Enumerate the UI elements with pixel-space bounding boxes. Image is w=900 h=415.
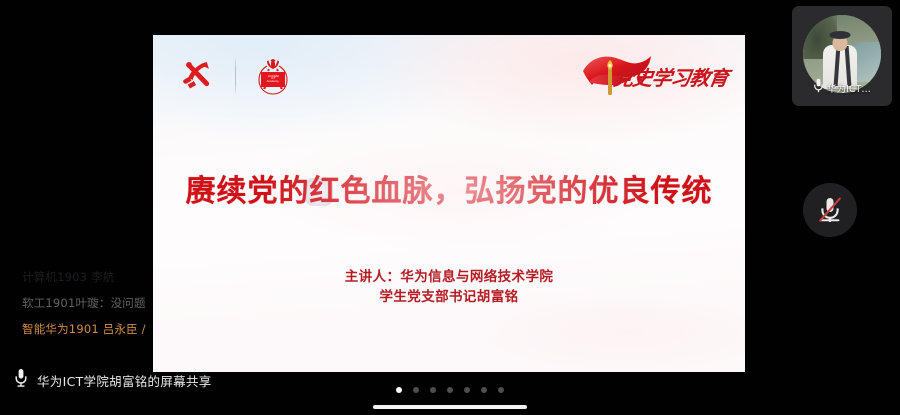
home-indicator[interactable]: [373, 405, 527, 409]
screen-share-status-bar: 华为ICT学院胡富铭的屏幕共享: [14, 368, 212, 392]
pagination-dot[interactable]: [447, 387, 453, 393]
shared-screen-slide[interactable]: HUAWEI ICT Academy: [153, 35, 745, 372]
participant-footer: 华为ICT…: [792, 78, 892, 98]
pagination-dot[interactable]: [396, 387, 402, 393]
ict-academy-line3: Academy: [267, 81, 279, 84]
hammer-and-sickle-icon: [175, 54, 219, 98]
pagination-dot[interactable]: [481, 387, 487, 393]
chat-message: 计算机1903 李航: [22, 269, 192, 285]
slide-subtitle-line1: 主讲人：华为信息与网络技术学院: [153, 267, 745, 287]
pagination-dot[interactable]: [430, 387, 436, 393]
slide-title: 赓续党的红色血脉，弘扬党的优良传统: [153, 166, 745, 210]
participant-name: 华为ICT…: [827, 81, 871, 95]
pagination-dot[interactable]: [498, 387, 504, 393]
microphone-muted-icon[interactable]: [803, 183, 857, 237]
pagination-dot[interactable]: [413, 387, 419, 393]
microphone-icon: [813, 78, 824, 98]
logo-divider: [235, 56, 236, 96]
ict-academy-wordmark: HUAWEI ICT Academy: [261, 72, 285, 87]
banner-calligraphy-text: 党史学习教育: [612, 62, 730, 91]
slide-logo-row: HUAWEI ICT Academy: [175, 49, 296, 103]
slide-subtitle-line2: 学生党支部书记胡富铭: [153, 287, 745, 307]
pagination-dot[interactable]: [464, 387, 470, 393]
red-flag-torch-icon: 党史学习教育: [579, 51, 731, 99]
chat-message-overlay: 计算机1903 李航 软工1901叶璇：没问题 智能华为1901 吕永臣 /: [22, 269, 192, 337]
slide-subtitle: 主讲人：华为信息与网络技术学院 学生党支部书记胡富铭: [153, 267, 745, 308]
screen-share-label: 华为ICT学院胡富铭的屏幕共享: [37, 371, 212, 390]
chat-message: 软工1901叶璇：没问题: [22, 295, 192, 311]
meeting-screen: HUAWEI ICT Academy: [0, 0, 900, 415]
participant-video-tile[interactable]: 华为ICT…: [792, 6, 892, 106]
microphone-icon: [14, 368, 28, 392]
huawei-ict-academy-logo: HUAWEI ICT Academy: [250, 55, 296, 97]
chat-message: 智能华为1901 吕永臣 /: [22, 321, 192, 337]
